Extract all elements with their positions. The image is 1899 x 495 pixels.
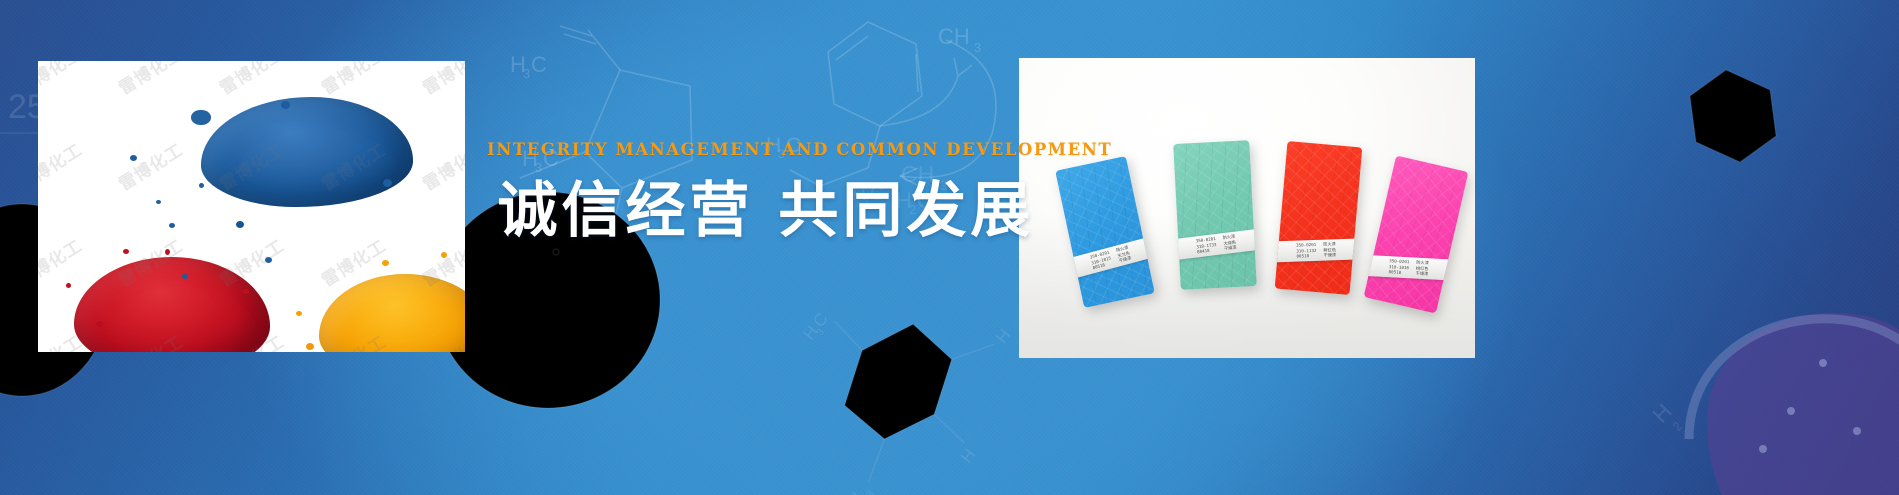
swatch-code-lines: 350-0201 310-1132 80518	[1296, 242, 1317, 260]
swatch-name-lines: 防火漆 大绿色 干燥漆	[1223, 234, 1238, 252]
svg-text:H: H	[957, 445, 980, 466]
svg-text:3: 3	[974, 40, 981, 55]
headline-chinese: 诚信经营 共同发展	[487, 179, 1045, 244]
watermark-text: 雷博化工	[113, 61, 187, 99]
pigment-speck	[382, 260, 389, 266]
watermark-text: 雷博化工	[113, 135, 187, 194]
swatch-texture	[1275, 141, 1363, 295]
svg-text:H: H	[510, 52, 526, 77]
swatch-name-lines: 防火漆 天兰色 干燥漆	[1115, 245, 1132, 265]
banner-copy-block: INTEGRITY MANAGEMENT AND COMMON DEVELOPM…	[487, 140, 1045, 244]
molecule-lower: H 3 C CH 3 H H	[728, 231, 1051, 495]
swatch-label-band: 350-0201 310-1132 80518 防火漆 鲜红色 干燥漆	[1275, 238, 1363, 262]
svg-text:H: H	[1648, 399, 1677, 428]
pigment-speck	[236, 221, 244, 228]
watermark-text: 雷博化工	[38, 135, 86, 194]
pigment-speck	[243, 289, 249, 294]
svg-text:3: 3	[865, 489, 877, 495]
swatch-code-lines: 350-0201 310-1T33 80418	[1196, 236, 1218, 255]
blue-pigment-pile	[201, 97, 413, 207]
pigment-speck	[265, 257, 272, 263]
decorative-blob	[1671, 303, 1899, 495]
pigment-speck	[123, 249, 129, 254]
pigment-speck	[383, 179, 392, 187]
svg-text:H: H	[799, 322, 822, 343]
svg-text:CH: CH	[837, 489, 867, 495]
svg-text:C: C	[531, 52, 547, 77]
pigment-speck	[169, 223, 175, 228]
watermark-text: 雷博化工	[38, 231, 86, 290]
pigment-speck	[281, 101, 290, 109]
pigment-speck	[156, 200, 161, 204]
watermark-text: 雷博化工	[38, 61, 86, 99]
red-swatch: 350-0201 310-1132 80518 防火漆 鲜红色 干燥漆	[1275, 141, 1363, 295]
pigment-speck	[441, 252, 447, 258]
tagline-english: INTEGRITY MANAGEMENT AND COMMON DEVELOPM…	[487, 140, 1045, 159]
svg-text:CH: CH	[938, 24, 970, 49]
product-image-pigment-powders[interactable]: 雷博化工 雷博化工 雷博化工 雷博化工 雷博化工 雷博化工 雷博化工 雷博化工 …	[38, 61, 465, 352]
yellow-pigment-pile	[319, 274, 465, 352]
swatch-name-lines: 防火漆 鲜红色 干燥漆	[1323, 241, 1336, 258]
watermark-text: 雷博化工	[417, 61, 465, 99]
pigment-speck	[96, 321, 103, 327]
red-pigment-pile	[74, 257, 270, 352]
pigment-speck	[191, 110, 211, 125]
pigment-speck	[199, 183, 204, 188]
product-image-color-swatches[interactable]: 350-0201 310-1015 80518 防火漆 天兰色 干燥漆 350-…	[1019, 58, 1475, 358]
pigment-speck	[296, 311, 302, 316]
svg-text:H: H	[992, 326, 1015, 347]
watermark-text: 雷博化工	[316, 61, 390, 99]
svg-text:2: 2	[1669, 418, 1685, 434]
swatch-code-lines: 350-0201 310-1016 80518	[1388, 258, 1409, 276]
promo-banner: 250 H 3 C H 3	[0, 0, 1899, 495]
swatch-name-lines: 防火漆 桃红色 干燥漆	[1415, 260, 1428, 278]
pigment-speck	[165, 249, 170, 255]
watermark-text: 雷博化工	[417, 135, 465, 194]
swatch-code-lines: 350-0201 310-1015 80518	[1089, 250, 1113, 272]
swatch-texture	[1173, 140, 1257, 290]
pigment-speck	[182, 274, 188, 279]
svg-text:C: C	[809, 310, 832, 331]
pigment-speck	[306, 343, 314, 350]
watermark-text: 雷博化工	[214, 61, 288, 99]
pigment-speck	[66, 283, 71, 288]
green-swatch: 350-0201 310-1T33 80418 防火漆 大绿色 干燥漆	[1173, 140, 1257, 290]
svg-text:3: 3	[523, 66, 530, 81]
pigment-speck	[130, 155, 137, 161]
svg-text:3: 3	[815, 327, 827, 339]
